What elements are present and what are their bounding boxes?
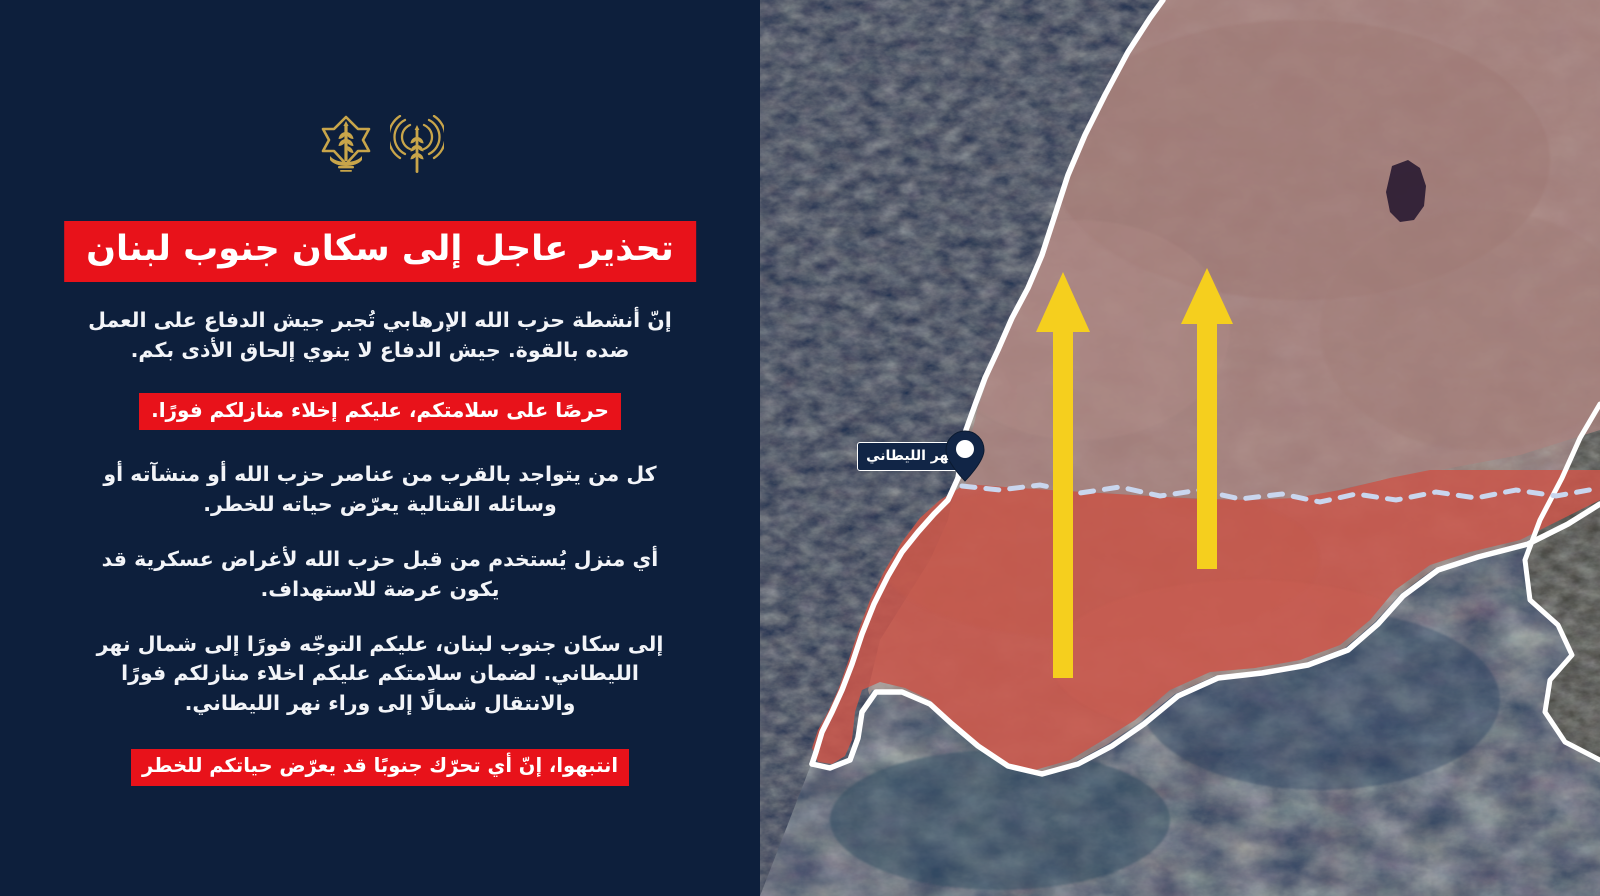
highlight-banner-2-wrap: انتبهوا، إنّ أي تحرّك جنوبًا قد يعرّض حي…	[70, 749, 690, 785]
litani-river-label-text: نهر الليطاني	[866, 448, 954, 464]
warning-paragraph-2: كل من يتواجد بالقرب من عناصر حزب الله أو…	[80, 460, 680, 520]
idf-insignia-icon	[316, 112, 376, 180]
page-title-text: تحذير عاجل إلى سكان جنوب لبنان	[86, 228, 674, 271]
warning-paragraph-1: إنّ أنشطة حزب الله الإرهابي تُجبر جيش ال…	[80, 306, 680, 366]
highlight-banner-1-wrap: حرصًا على سلامتكم، عليكم إخلاء منازلكم ف…	[70, 393, 690, 430]
text-panel: تحذير عاجل إلى سكان جنوب لبنان إنّ أنشطة…	[0, 0, 760, 896]
litani-river-marker[interactable]: نهر الليطاني	[861, 430, 981, 486]
warning-graphic: نهر الليطاني	[0, 0, 1600, 896]
idf-spokesperson-broadcast-icon	[390, 115, 444, 177]
warning-paragraph-4: إلى سكان جنوب لبنان، عليكم التوجّه فورًا…	[80, 630, 680, 720]
highlight-banner-1: حرصًا على سلامتكم، عليكم إخلاء منازلكم ف…	[139, 393, 621, 430]
map-pin-icon	[945, 430, 985, 482]
warning-body: إنّ أنشطة حزب الله الإرهابي تُجبر جيش ال…	[70, 306, 690, 786]
highlight-banner-2: انتبهوا، إنّ أي تحرّك جنوبًا قد يعرّض حي…	[131, 749, 629, 785]
page-title: تحذير عاجل إلى سكان جنوب لبنان	[64, 221, 696, 282]
emblem-group	[0, 112, 760, 180]
warning-paragraph-3: أي منزل يُستخدم من قبل حزب الله لأغراض ع…	[80, 545, 680, 605]
